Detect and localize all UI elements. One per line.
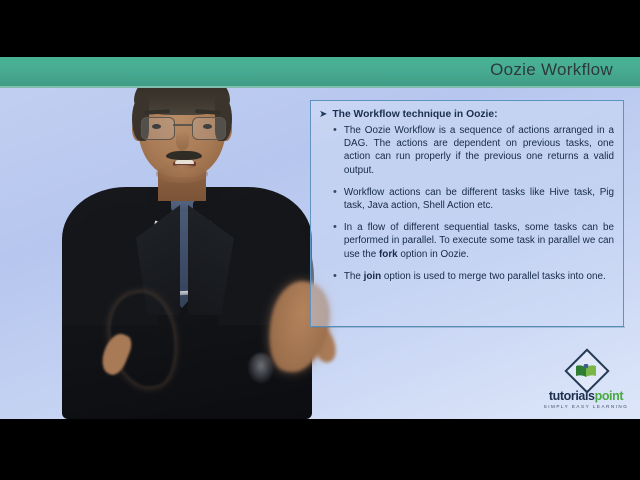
logo-tagline: SIMPLY EASY LEARNING <box>538 403 634 411</box>
video-player-frame: Oozie Workflow <box>0 0 640 480</box>
slide-title-bar: Oozie Workflow <box>0 57 640 88</box>
list-item: • The Oozie Workflow is a sequence of ac… <box>333 124 614 177</box>
slide-heading: ➤ The Workflow technique in Oozie: <box>319 108 614 121</box>
presenter-nose <box>176 131 189 151</box>
presenter-pocket-emblem <box>248 353 274 383</box>
page-title: Oozie Workflow <box>0 60 613 80</box>
arrow-bullet-icon: ➤ <box>319 108 327 121</box>
dot-bullet-icon: • <box>333 270 337 283</box>
slide-content-panel: ➤ The Workflow technique in Oozie: • The… <box>310 100 624 327</box>
dot-bullet-icon: • <box>333 221 337 234</box>
slide-bullet-list: • The Oozie Workflow is a sequence of ac… <box>319 124 614 283</box>
list-item: • The join option is used to merge two p… <box>333 270 614 283</box>
bullet-text: Workflow actions can be different tasks … <box>344 186 614 212</box>
bullet-text: In a flow of different sequential tasks,… <box>344 221 614 261</box>
presenter-chin <box>156 165 208 183</box>
dot-bullet-icon: • <box>333 186 337 199</box>
slide-heading-text: The Workflow technique in Oozie: <box>332 108 497 121</box>
bullet-text: The Oozie Workflow is a sequence of acti… <box>344 124 614 177</box>
presenter-mustache <box>166 151 202 160</box>
logo-book-icon <box>575 364 597 378</box>
slide-stage: Oozie Workflow <box>0 57 640 419</box>
dot-bullet-icon: • <box>333 124 337 137</box>
presenter-eyeglass-bridge <box>173 124 192 126</box>
list-item: • Workflow actions can be different task… <box>333 186 614 212</box>
list-item: • In a flow of different sequential task… <box>333 221 614 261</box>
tutorialspoint-logo: tutorialspoint SIMPLY EASY LEARNING <box>538 353 634 415</box>
bullet-text: The join option is used to merge two par… <box>344 270 606 283</box>
letterbox-bottom <box>0 419 640 480</box>
presenter-teeth <box>175 160 194 164</box>
presenter-figure <box>40 65 340 419</box>
presenter-eyeglass-lens-right <box>192 117 226 140</box>
presenter-eyeglass-lens-left <box>141 117 175 140</box>
letterbox-top <box>0 0 640 57</box>
logo-diamond-book-icon <box>566 353 606 393</box>
